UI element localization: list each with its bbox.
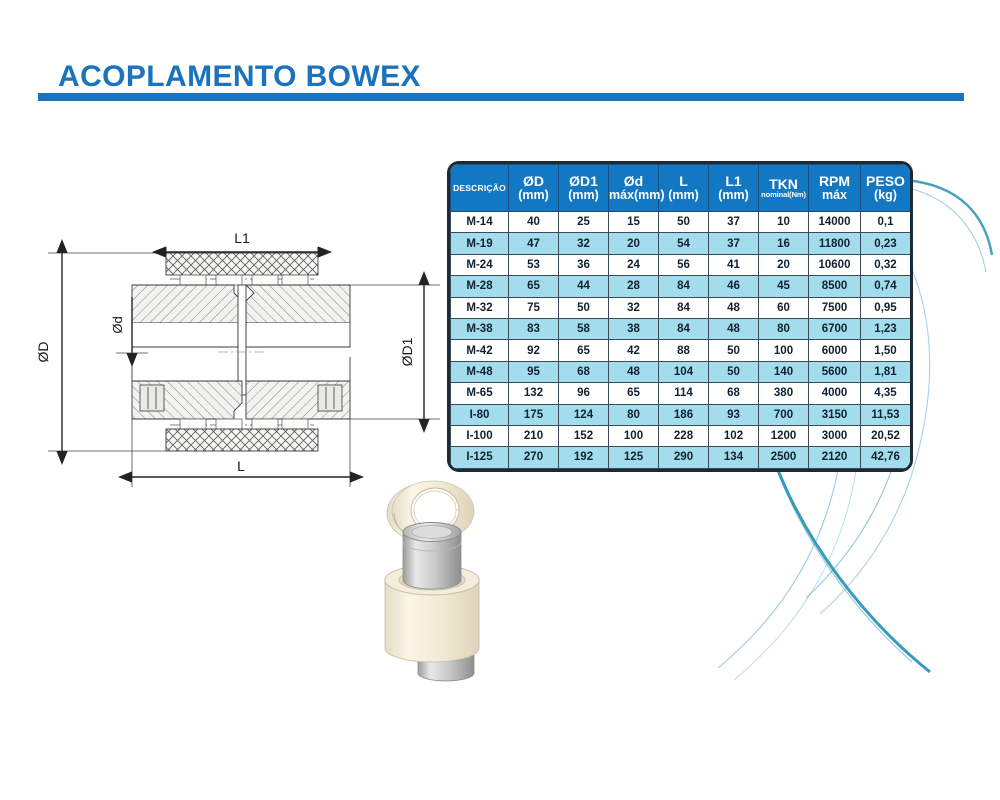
table-cell-odmax: 28 (609, 276, 659, 297)
table-cell-l: 186 (659, 404, 709, 425)
table-cell-descricao: I-100 (451, 425, 509, 446)
table-cell-peso: 1,23 (861, 318, 911, 339)
dimension-label-Od: Ød (110, 316, 125, 333)
table-row: M-3275503284486075000,95 (451, 297, 911, 318)
table-cell-peso: 0,32 (861, 254, 911, 275)
table-cell-l1: 41 (709, 254, 759, 275)
column-header-peso: PESO (kg) (861, 165, 911, 212)
table-cell-l1: 68 (709, 383, 759, 404)
column-header-rpm: RPM máx (809, 165, 861, 212)
table-cell-od: 47 (509, 233, 559, 254)
table-cell-descricao: M-19 (451, 233, 509, 254)
table-cell-l1: 50 (709, 340, 759, 361)
table-cell-od: 270 (509, 447, 559, 468)
table-cell-descricao: M-32 (451, 297, 509, 318)
table-cell-tkn: 16 (759, 233, 809, 254)
table-cell-odmax: 32 (609, 297, 659, 318)
table-cell-rpm: 5600 (809, 361, 861, 382)
table-cell-l: 290 (659, 447, 709, 468)
table-cell-odmax: 65 (609, 383, 659, 404)
table-row: M-42926542885010060001,50 (451, 340, 911, 361)
table-cell-odmax: 125 (609, 447, 659, 468)
table-cell-peso: 42,76 (861, 447, 911, 468)
table-cell-tkn: 1200 (759, 425, 809, 446)
column-header-l: L (mm) (659, 165, 709, 212)
table-cell-descricao: M-65 (451, 383, 509, 404)
table-cell-tkn: 2500 (759, 447, 809, 468)
table-cell-rpm: 4000 (809, 383, 861, 404)
column-header-od-max: Ød máx(mm) (609, 165, 659, 212)
table-cell-descricao: M-28 (451, 276, 509, 297)
table-cell-rpm: 2120 (809, 447, 861, 468)
column-header-l1: L1 (mm) (709, 165, 759, 212)
table-cell-l: 228 (659, 425, 709, 446)
table-cell-l: 56 (659, 254, 709, 275)
table-cell-odmax: 80 (609, 404, 659, 425)
table-cell-od1: 192 (559, 447, 609, 468)
table-cell-peso: 4,35 (861, 383, 911, 404)
table-cell-od: 65 (509, 276, 559, 297)
table-cell-od: 95 (509, 361, 559, 382)
table-cell-od1: 96 (559, 383, 609, 404)
table-row: M-6513296651146838040004,35 (451, 383, 911, 404)
table-cell-odmax: 42 (609, 340, 659, 361)
coupling-cross-section-drawing: L1 ØD Ød ØD1 L (20, 175, 460, 505)
table-row: M-489568481045014056001,81 (451, 361, 911, 382)
table-cell-tkn: 100 (759, 340, 809, 361)
table-cell-l: 114 (659, 383, 709, 404)
table-row: I-801751248018693700315011,53 (451, 404, 911, 425)
table-cell-tkn: 20 (759, 254, 809, 275)
table-cell-od: 175 (509, 404, 559, 425)
table-cell-tkn: 80 (759, 318, 809, 339)
table-cell-descricao: M-48 (451, 361, 509, 382)
table-row: I-1002101521002281021200300020,52 (451, 425, 911, 446)
table-cell-rpm: 7500 (809, 297, 861, 318)
column-header-descricao: DESCRIÇÃO (451, 165, 509, 212)
table-cell-rpm: 3150 (809, 404, 861, 425)
table-cell-l1: 48 (709, 297, 759, 318)
table-cell-od: 53 (509, 254, 559, 275)
table-cell-od: 40 (509, 212, 559, 233)
table-cell-l: 104 (659, 361, 709, 382)
table-cell-odmax: 38 (609, 318, 659, 339)
table-cell-rpm: 10600 (809, 254, 861, 275)
column-header-tkn: TKN nominal(Nm) (759, 165, 809, 212)
table-row: I-1252701921252901342500212042,76 (451, 447, 911, 468)
dimension-label-L1: L1 (234, 230, 250, 246)
table-cell-tkn: 10 (759, 212, 809, 233)
table-cell-odmax: 48 (609, 361, 659, 382)
table-cell-od1: 124 (559, 404, 609, 425)
table-cell-od1: 36 (559, 254, 609, 275)
table-cell-descricao: M-42 (451, 340, 509, 361)
table-cell-od: 92 (509, 340, 559, 361)
table-cell-descricao: M-14 (451, 212, 509, 233)
table-cell-od: 83 (509, 318, 559, 339)
table-cell-od1: 50 (559, 297, 609, 318)
table-cell-peso: 1,50 (861, 340, 911, 361)
table-cell-odmax: 15 (609, 212, 659, 233)
table-cell-l1: 37 (709, 212, 759, 233)
table-cell-tkn: 60 (759, 297, 809, 318)
table-cell-peso: 0,23 (861, 233, 911, 254)
table-cell-od1: 65 (559, 340, 609, 361)
dimension-label-OD1: ØD1 (399, 337, 415, 366)
table-cell-l: 84 (659, 318, 709, 339)
product-photos (355, 468, 555, 688)
table-cell-od1: 152 (559, 425, 609, 446)
table-cell-odmax: 24 (609, 254, 659, 275)
table-cell-l1: 93 (709, 404, 759, 425)
column-header-od1: ØD1 (mm) (559, 165, 609, 212)
table-cell-l1: 46 (709, 276, 759, 297)
table-cell-od: 132 (509, 383, 559, 404)
table-cell-tkn: 700 (759, 404, 809, 425)
table-row: M-2865442884464585000,74 (451, 276, 911, 297)
table-row: M-24533624564120106000,32 (451, 254, 911, 275)
table-cell-od1: 32 (559, 233, 609, 254)
table-cell-l1: 102 (709, 425, 759, 446)
table-cell-peso: 0,95 (861, 297, 911, 318)
table-cell-rpm: 8500 (809, 276, 861, 297)
table-cell-odmax: 20 (609, 233, 659, 254)
table-cell-l: 88 (659, 340, 709, 361)
table-cell-l1: 134 (709, 447, 759, 468)
page-title: ACOPLAMENTO BOWEX (58, 60, 421, 94)
table-cell-od1: 68 (559, 361, 609, 382)
column-header-od: ØD (mm) (509, 165, 559, 212)
table-cell-od: 75 (509, 297, 559, 318)
table-cell-peso: 1,81 (861, 361, 911, 382)
table-cell-rpm: 11800 (809, 233, 861, 254)
table-cell-descricao: I-80 (451, 404, 509, 425)
table-cell-odmax: 100 (609, 425, 659, 446)
table-cell-od1: 58 (559, 318, 609, 339)
table-cell-descricao: I-125 (451, 447, 509, 468)
table-cell-tkn: 45 (759, 276, 809, 297)
table-cell-l: 50 (659, 212, 709, 233)
table-row: M-19473220543716118000,23 (451, 233, 911, 254)
table-cell-l: 84 (659, 276, 709, 297)
dimension-label-L: L (237, 458, 245, 474)
table-cell-tkn: 140 (759, 361, 809, 382)
table-header-row: DESCRIÇÃO ØD (mm) ØD1 (mm) Ød máx(mm) L … (451, 165, 911, 212)
table-cell-od1: 25 (559, 212, 609, 233)
table-cell-l1: 37 (709, 233, 759, 254)
dimension-label-OD: ØD (35, 342, 51, 363)
table-cell-peso: 11,53 (861, 404, 911, 425)
table-cell-l1: 50 (709, 361, 759, 382)
table-cell-rpm: 14000 (809, 212, 861, 233)
photo-assembled-coupling (385, 523, 479, 682)
table-row: M-14402515503710140000,1 (451, 212, 911, 233)
specification-table: DESCRIÇÃO ØD (mm) ØD1 (mm) Ød máx(mm) L … (447, 161, 913, 472)
table-cell-descricao: M-38 (451, 318, 509, 339)
table-cell-l: 54 (659, 233, 709, 254)
table-row: M-3883583884488067001,23 (451, 318, 911, 339)
table-cell-od: 210 (509, 425, 559, 446)
table-cell-descricao: M-24 (451, 254, 509, 275)
table-cell-od1: 44 (559, 276, 609, 297)
title-underline-bar (38, 93, 964, 101)
table-cell-peso: 0,74 (861, 276, 911, 297)
table-cell-rpm: 6000 (809, 340, 861, 361)
table-cell-tkn: 380 (759, 383, 809, 404)
table-cell-peso: 0,1 (861, 212, 911, 233)
table-cell-rpm: 3000 (809, 425, 861, 446)
table-cell-l1: 48 (709, 318, 759, 339)
table-cell-l: 84 (659, 297, 709, 318)
table-cell-peso: 20,52 (861, 425, 911, 446)
table-cell-rpm: 6700 (809, 318, 861, 339)
